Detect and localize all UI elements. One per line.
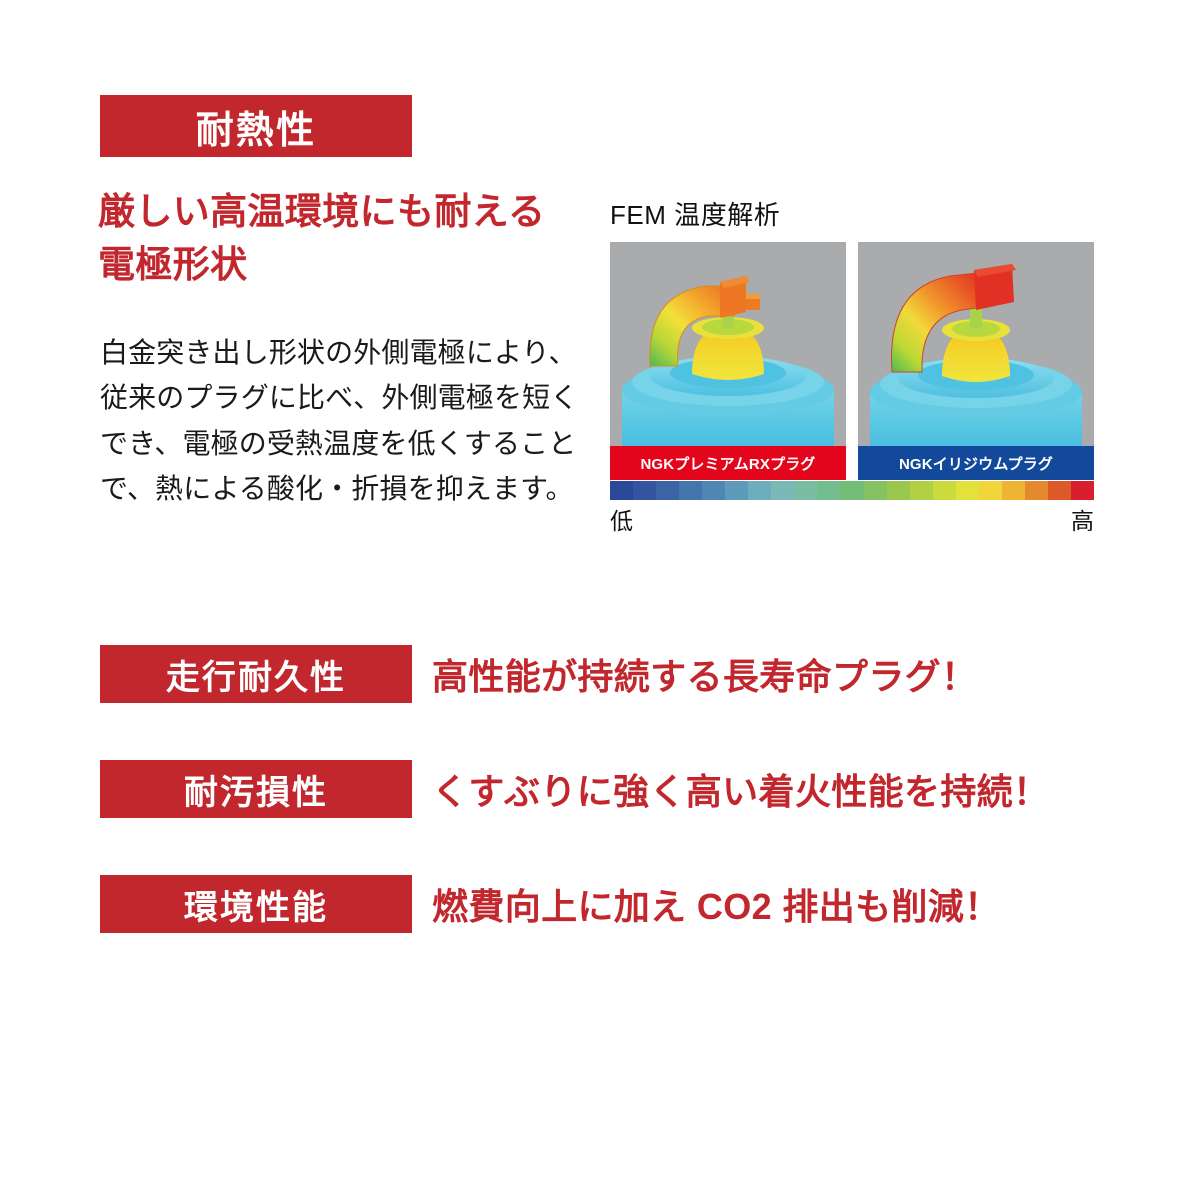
- temperature-scale-band: [794, 481, 817, 500]
- feature-row-durability: 走行耐久性 高性能が持続する長寿命プラグ！: [0, 645, 1200, 760]
- temperature-scale-band: [748, 481, 771, 500]
- scale-high-label: 高: [1071, 502, 1094, 536]
- temperature-scale-band: [1002, 481, 1025, 500]
- temperature-scale-band: [840, 481, 863, 500]
- temperature-scale-band: [656, 481, 679, 500]
- feature-row-environmental: 環境性能 燃費向上に加え CO2 排出も削減！: [0, 875, 1200, 990]
- fem-panel-group: NGKプレミアムRXプラグ: [610, 242, 1095, 480]
- fem-panel-premium-rx: NGKプレミアムRXプラグ: [610, 242, 846, 480]
- fem-panel-iridium: NGKイリジウムプラグ: [858, 242, 1094, 480]
- temperature-scale-bar: [610, 481, 1094, 500]
- feature-description: 燃費向上に加え CO2 排出も削減！: [432, 875, 1001, 933]
- feature-description: 高性能が持続する長寿命プラグ！: [432, 645, 977, 703]
- feature-badge: 環境性能: [100, 875, 412, 933]
- heat-resistance-badge: 耐熱性: [100, 95, 412, 157]
- temperature-scale-band: [956, 481, 979, 500]
- feature-description: くすぶりに強く高い着火性能を持続！: [432, 760, 1049, 818]
- temperature-scale-band: [633, 481, 656, 500]
- temperature-scale-band: [933, 481, 956, 500]
- temperature-scale-band: [1071, 481, 1094, 500]
- temperature-scale-band: [702, 481, 725, 500]
- spark-plug-thermal-render-icon: [858, 242, 1094, 480]
- fem-panel-caption: NGKプレミアムRXプラグ: [610, 446, 846, 480]
- spark-plug-thermal-render-icon: [610, 242, 846, 480]
- temperature-scale-band: [817, 481, 840, 500]
- heat-resistance-body-text: 白金突き出し形状の外側電極により、従来のプラグに比べ、外側電極を短くでき、電極の…: [100, 330, 592, 511]
- temperature-scale-band: [771, 481, 794, 500]
- temperature-scale-band: [910, 481, 933, 500]
- temperature-scale-band: [725, 481, 748, 500]
- temperature-scale-band: [979, 481, 1002, 500]
- temperature-scale-band: [864, 481, 887, 500]
- heat-resistance-section: 耐熱性 厳しい高温環境にも耐える 電極形状 白金突き出し形状の外側電極により、従…: [0, 0, 1200, 600]
- temperature-scale-band: [887, 481, 910, 500]
- temperature-scale: 低 高: [610, 481, 1094, 536]
- feature-badge: 走行耐久性: [100, 645, 412, 703]
- feature-badge: 耐汚損性: [100, 760, 412, 818]
- temperature-scale-labels: 低 高: [610, 502, 1094, 536]
- fem-analysis-title: FEM 温度解析: [610, 198, 1095, 232]
- fem-analysis-block: FEM 温度解析: [610, 198, 1095, 480]
- fem-panel-caption: NGKイリジウムプラグ: [858, 446, 1094, 480]
- feature-row-fouling-resistance: 耐汚損性 くすぶりに強く高い着火性能を持続！: [0, 760, 1200, 875]
- temperature-scale-band: [679, 481, 702, 500]
- feature-list: 走行耐久性 高性能が持続する長寿命プラグ！ 耐汚損性 くすぶりに強く高い着火性能…: [0, 645, 1200, 990]
- temperature-scale-band: [610, 481, 633, 500]
- heat-resistance-headline: 厳しい高温環境にも耐える 電極形状: [98, 186, 598, 291]
- temperature-scale-band: [1048, 481, 1071, 500]
- temperature-scale-band: [1025, 481, 1048, 500]
- scale-low-label: 低: [610, 502, 633, 536]
